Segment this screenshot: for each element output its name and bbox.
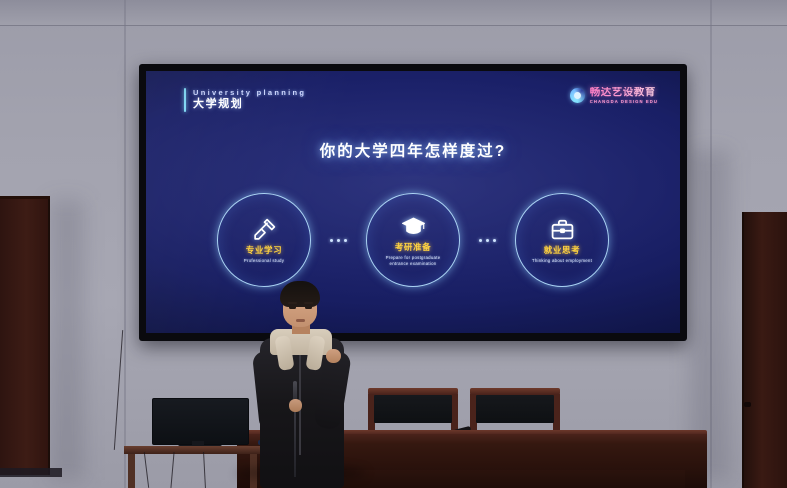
- wall-shadow-left: [50, 200, 84, 480]
- presenter-hair: [280, 281, 320, 307]
- presenter-eye-left: [289, 306, 296, 309]
- computer-monitor[interactable]: [152, 398, 249, 445]
- wall-seam-left: [124, 0, 126, 488]
- ceiling: [0, 0, 787, 26]
- baseboard: [0, 468, 62, 477]
- presenter-hand-right: [326, 349, 341, 363]
- presenter: [247, 281, 353, 488]
- presenter-mouth: [296, 319, 305, 322]
- door-left[interactable]: [0, 199, 50, 475]
- wooden-chair-right[interactable]: [470, 388, 560, 430]
- display-panel: University planning 大学规划 畅达艺设教育 CHANGDA …: [146, 71, 680, 333]
- chair-backrest: [374, 395, 452, 423]
- slide-vignette: [146, 71, 680, 333]
- microphone-cord: [294, 403, 296, 477]
- chair-top-rail: [368, 388, 458, 395]
- presenter-hand-left: [289, 399, 302, 412]
- door-right[interactable]: [742, 212, 787, 488]
- wooden-chair-left[interactable]: [368, 388, 458, 430]
- presenter-eyebrow-right: [304, 302, 313, 304]
- ceiling-trim-line: [0, 25, 787, 26]
- side-table-leg-left: [128, 454, 135, 488]
- presenter-eye-right: [305, 306, 312, 309]
- chair-post-right: [451, 394, 458, 430]
- lecture-hall-photo: University planning 大学规划 畅达艺设教育 CHANGDA …: [0, 0, 787, 488]
- chair-backrest: [476, 395, 554, 423]
- wall-display[interactable]: University planning 大学规划 畅达艺设教育 CHANGDA …: [139, 64, 687, 341]
- presentation-slide: University planning 大学规划 畅达艺设教育 CHANGDA …: [146, 71, 680, 333]
- chair-post-right: [553, 394, 560, 430]
- door-handle-icon[interactable]: [744, 402, 751, 407]
- presenter-eyebrow-left: [288, 302, 297, 304]
- chair-top-rail: [470, 388, 560, 395]
